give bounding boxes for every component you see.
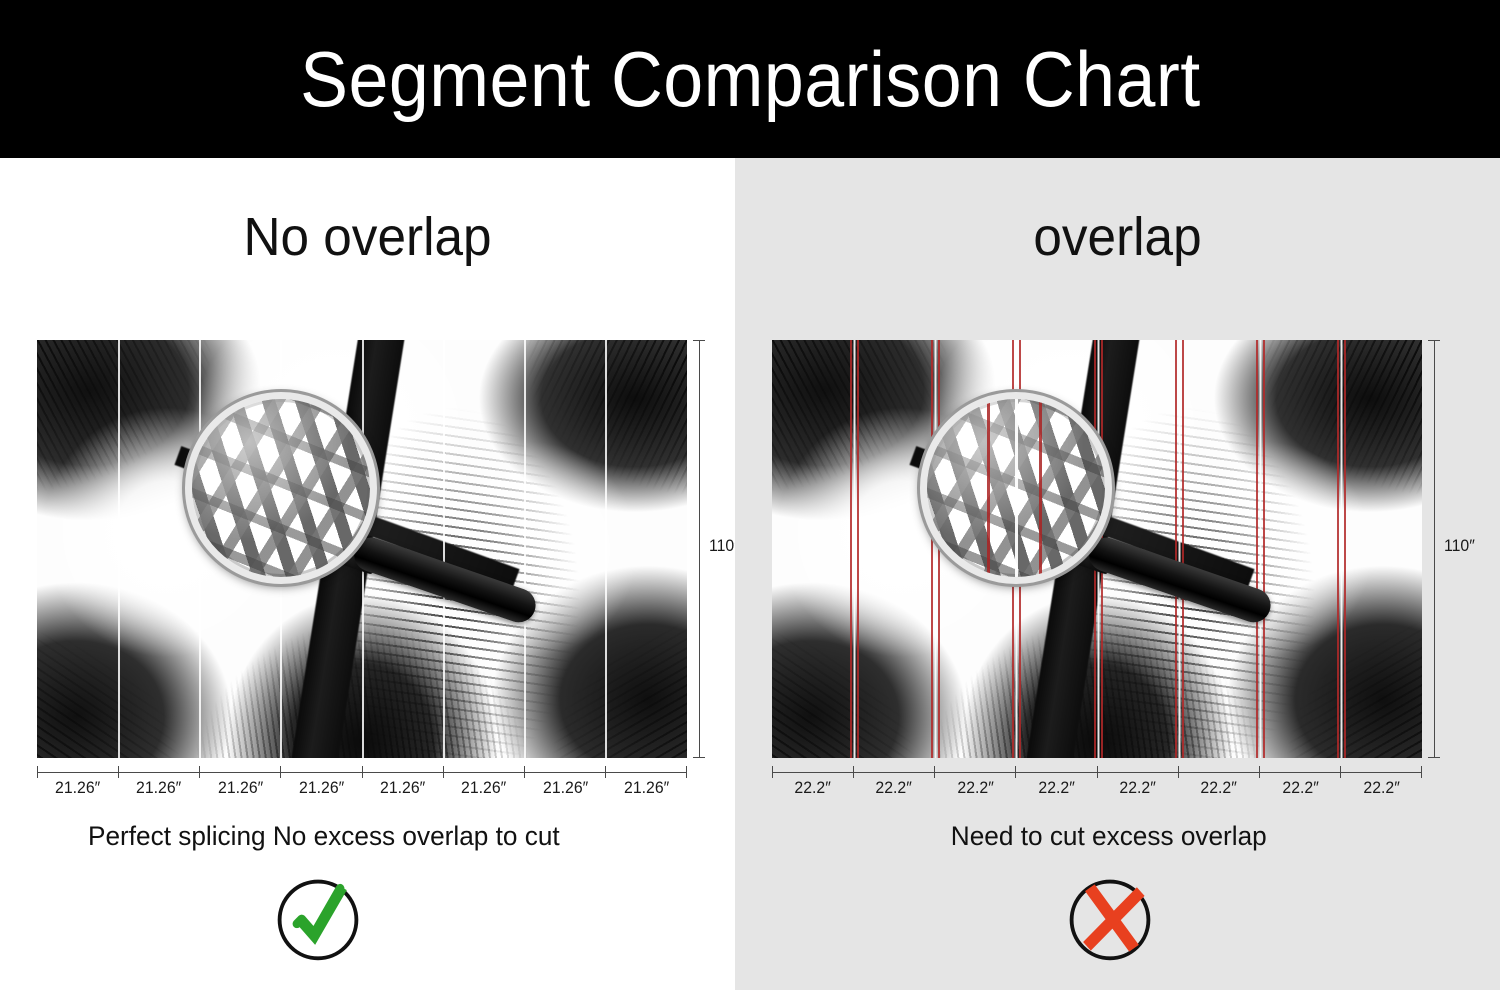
panel-overlap: overlap [735, 158, 1500, 990]
segment-label: 21.26″ [609, 778, 685, 798]
segment-comparison-page: Segment Comparison Chart No overlap [0, 0, 1500, 990]
caption-overlap: Need to cut excess overlap [746, 821, 1488, 852]
mural-photo-no-overlap [37, 340, 687, 758]
panel-heading-no-overlap: No overlap [18, 206, 716, 268]
figure-overlap: 110″ 22.2″ 22.2″ 22.2″ [772, 340, 1422, 798]
height-dimension-line-left [693, 340, 705, 758]
panel-heading-overlap: overlap [754, 206, 1481, 268]
title-banner: Segment Comparison Chart [0, 0, 1500, 158]
segment-label: 21.26″ [446, 778, 522, 798]
segment-width-labels-right: 22.2″ 22.2″ 22.2″ 22.2″ 22.2″ 22.2″ 22.2… [772, 778, 1422, 798]
check-circle-icon [270, 870, 366, 966]
seam-lines-no-overlap [37, 340, 687, 758]
segment-label: 22.2″ [937, 778, 1013, 798]
segment-label: 21.26″ [40, 778, 116, 798]
mural-photo-overlap [772, 340, 1422, 758]
height-label-right: 110″ [1444, 536, 1475, 556]
cross-circle-icon [1062, 870, 1158, 966]
panel-no-overlap: No overlap [0, 158, 735, 990]
segment-label: 21.26″ [284, 778, 360, 798]
width-dimension-line-right [772, 766, 1422, 778]
width-dimension-line-left [37, 766, 687, 778]
figure-no-overlap: 110″ 21.26″ 21.26″ 21.26″ [37, 340, 687, 798]
caption-no-overlap: Perfect splicing No excess overlap to cu… [11, 821, 724, 852]
height-dimension-line-right [1428, 340, 1440, 758]
page-title: Segment Comparison Chart [300, 40, 1200, 118]
segment-label: 21.26″ [365, 778, 441, 798]
segment-label: 22.2″ [775, 778, 851, 798]
segment-label: 22.2″ [1344, 778, 1420, 798]
segment-width-labels-left: 21.26″ 21.26″ 21.26″ 21.26″ 21.26″ 21.26… [37, 778, 687, 798]
segment-label: 22.2″ [1019, 778, 1095, 798]
segment-label: 22.2″ [1262, 778, 1338, 798]
seam-lines-overlap [772, 340, 1422, 758]
segment-label: 22.2″ [1100, 778, 1176, 798]
segment-label: 22.2″ [856, 778, 932, 798]
comparison-panels: No overlap [0, 158, 1500, 990]
segment-label: 21.26″ [527, 778, 603, 798]
segment-label: 21.26″ [202, 778, 278, 798]
segment-label: 22.2″ [1181, 778, 1257, 798]
segment-label: 21.26″ [121, 778, 197, 798]
